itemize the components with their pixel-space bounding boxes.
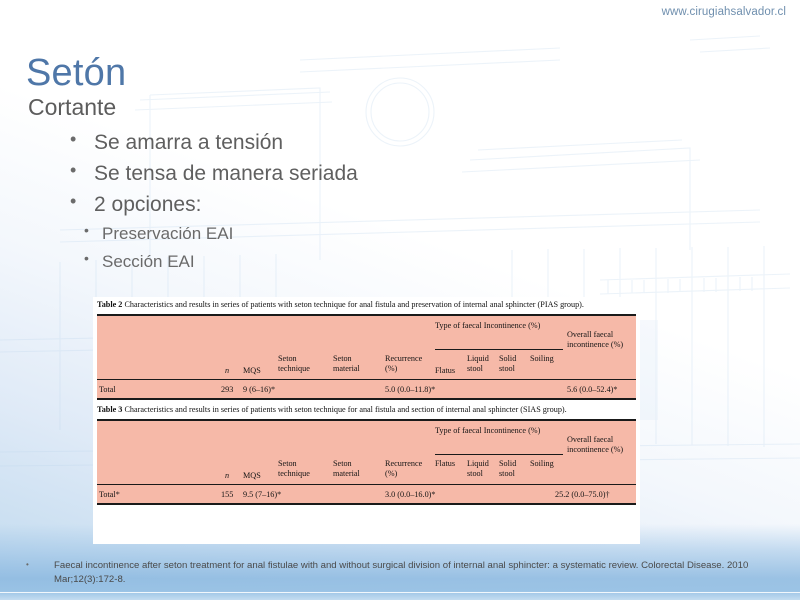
table3-col-overall: Overall faecal incontinence (%) xyxy=(567,435,633,455)
table3-caption: Table 3 Characteristics and results in s… xyxy=(97,405,636,416)
table2-row-label: Total xyxy=(99,385,116,395)
site-url: www.cirugiahsalvador.cl xyxy=(662,6,786,18)
table2-row-mqs: 9 (6–16)* xyxy=(243,385,275,395)
table3-row-label: Total* xyxy=(99,490,120,500)
table3-row-overall: 25.2 (0.0–75.0)† xyxy=(555,490,610,500)
table2-head: Type of faecal Incontinence (%) n MQS Se… xyxy=(97,316,636,379)
bullet-label: 2 opciones: xyxy=(94,193,201,216)
table2-col-mqs: MQS xyxy=(243,366,261,376)
table2-col-recurrence: Recurrence (%) xyxy=(385,354,433,374)
table3-head: Type of faecal Incontinence (%) n MQS Se… xyxy=(97,421,636,484)
page-title: Setón xyxy=(26,53,126,95)
table2-group-header-incontinence: Type of faecal Incontinence (%) xyxy=(435,321,563,331)
sub-bullet-label: Preservación EAI xyxy=(102,224,233,243)
table3-col-n: n xyxy=(225,471,229,481)
table2-col-soiling: Soiling xyxy=(530,354,554,364)
table2-col-overall: Overall faecal incontinence (%) xyxy=(567,330,633,350)
table3-col-liquid-stool: Liquid stool xyxy=(467,459,497,479)
table2-col-seton-material: Seton material xyxy=(333,354,375,374)
table3-row-n: 155 xyxy=(221,490,233,500)
table2-col-n: n xyxy=(225,366,229,376)
table3-col-solid-stool: Solid stool xyxy=(499,459,527,479)
table3-col-flatus: Flatus xyxy=(435,459,455,469)
table3-col-mqs: MQS xyxy=(243,471,261,481)
slide: www.cirugiahsalvador.cl Setón Cortante S… xyxy=(0,0,800,600)
table2-row-n: 293 xyxy=(221,385,233,395)
table3-group-header-incontinence: Type of faecal Incontinence (%) xyxy=(435,426,563,436)
slide-body: Cortante Se amarra a tensión Se tensa de… xyxy=(28,92,548,275)
bullet-item-2: Se tensa de manera seriada xyxy=(60,158,548,189)
table2-col-flatus: Flatus xyxy=(435,366,455,376)
table3-caption-text: Characteristics and results in series of… xyxy=(124,405,566,414)
subtitle-cortante: Cortante xyxy=(28,92,548,123)
table2-col-seton-technique: Seton technique xyxy=(278,354,322,374)
table2-row-recurrence: 5.0 (0.0–11.8)* xyxy=(385,385,435,395)
table2-caption-text: Characteristics and results in series of… xyxy=(124,300,584,309)
table3-col-seton-technique: Seton technique xyxy=(278,459,322,479)
table3-col-soiling: Soiling xyxy=(530,459,554,469)
table2-col-liquid-stool: Liquid stool xyxy=(467,354,497,374)
sub-bullet-item-1: Preservación EAI xyxy=(80,220,548,248)
table-row: Total* 155 9.5 (7–16)* 3.0 (0.0–16.0)* 2… xyxy=(97,484,636,506)
table2-col-solid-stool: Solid stool xyxy=(499,354,527,374)
sub-bullet-label: Sección EAI xyxy=(102,252,195,271)
bullet-label: Se tensa de manera seriada xyxy=(94,162,358,185)
bullet-item-1: Se amarra a tensión xyxy=(60,127,548,158)
bullet-item-3: 2 opciones: xyxy=(60,189,548,220)
table3-row-mqs: 9.5 (7–16)* xyxy=(243,490,281,500)
table2: Type of faecal Incontinence (%) n MQS Se… xyxy=(97,314,636,400)
table3: Type of faecal Incontinence (%) n MQS Se… xyxy=(97,419,636,505)
table3-col-seton-material: Seton material xyxy=(333,459,375,479)
bottom-hairline xyxy=(0,592,800,593)
footnote-text: Faecal incontinence after seton treatmen… xyxy=(26,559,766,586)
table2-caption: Table 2 Characteristics and results in s… xyxy=(97,300,636,311)
footnote: • Faecal incontinence after seton treatm… xyxy=(26,559,766,586)
footnote-bullet-icon: • xyxy=(26,559,29,570)
table3-group-rule xyxy=(435,454,563,455)
bullet-label: Se amarra a tensión xyxy=(94,131,283,154)
table2-label: Table 2 xyxy=(97,300,122,309)
table3-row-recurrence: 3.0 (0.0–16.0)* xyxy=(385,490,435,500)
figure-tables-image: Table 2 Characteristics and results in s… xyxy=(93,297,640,544)
sub-bullet-list: Preservación EAI Sección EAI xyxy=(28,220,548,275)
table-row: Total 293 9 (6–16)* 5.0 (0.0–11.8)* 5.6 … xyxy=(97,379,636,401)
sub-bullet-item-2: Sección EAI xyxy=(80,248,548,276)
table2-group-rule xyxy=(435,349,563,350)
table3-label: Table 3 xyxy=(97,405,122,414)
bullet-list: Se amarra a tensión Se tensa de manera s… xyxy=(28,127,548,220)
table2-row-overall: 5.6 (0.0–52.4)* xyxy=(567,385,617,395)
table3-col-recurrence: Recurrence (%) xyxy=(385,459,433,479)
